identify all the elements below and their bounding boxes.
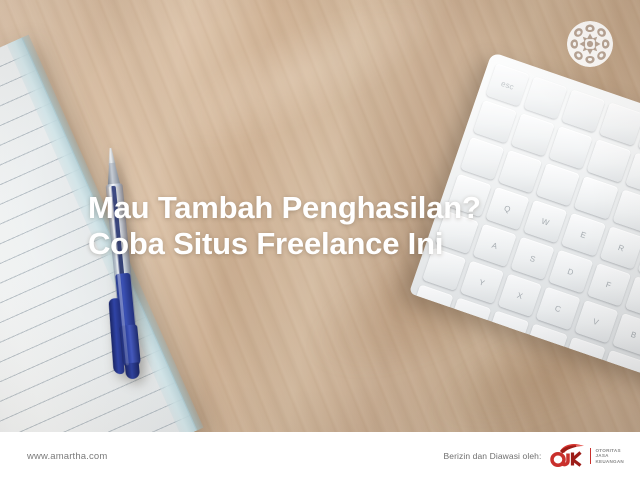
ojk-text-line-3: KEUANGAN	[595, 459, 624, 465]
regulator-block: Berizin dan Diawasi oleh:	[444, 443, 625, 469]
ojk-expansion-text: OTORITAS JASA KEUANGAN	[590, 448, 624, 465]
headline-line-1: Mau Tambah Penghasilan?	[88, 190, 481, 225]
page-title: Mau Tambah Penghasilan? Coba Situs Freel…	[88, 190, 588, 262]
ojk-logo: OTORITAS JASA KEUANGAN	[550, 443, 624, 469]
ojk-wordmark-icon	[550, 443, 586, 469]
website-url[interactable]: www.amartha.com	[27, 451, 107, 462]
regulator-label: Berizin dan Diawasi oleh:	[444, 451, 542, 461]
headline-line-2: Coba Situs Freelance Ini	[88, 226, 588, 262]
footer-bar: www.amartha.com Berizin dan Diawasi oleh…	[0, 432, 640, 480]
poster-canvas: escQWERTASDFGYXCVB	[0, 0, 640, 480]
